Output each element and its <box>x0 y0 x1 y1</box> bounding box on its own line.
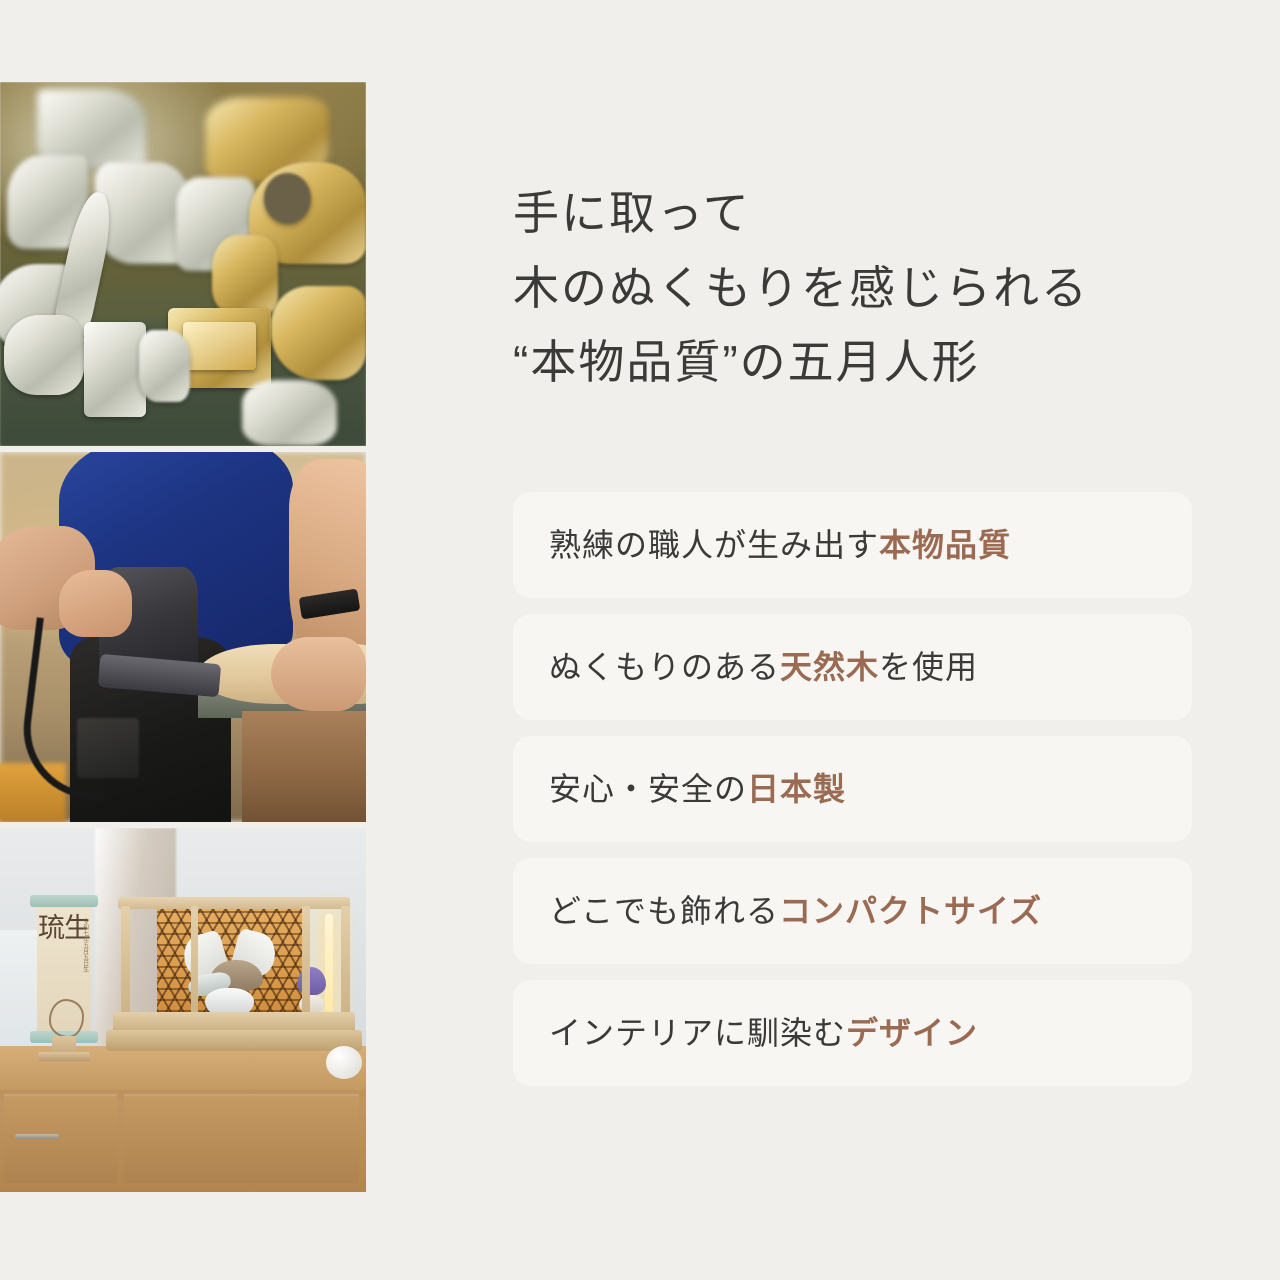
content-column: 手に取って 木のぬくもりを感じられる “本物品質”の五月人形 熟練の職人が生み出… <box>513 0 1213 1280</box>
drawer-handle <box>15 1134 59 1139</box>
dresser-drawer <box>124 1094 358 1183</box>
right-arm <box>289 459 366 666</box>
case-post <box>191 906 198 1014</box>
headline-line-2: 木のぬくもりを感じられる <box>513 251 1089 326</box>
silver-plate <box>84 322 146 417</box>
feature-card-3: 安心・安全の日本製 <box>513 736 1192 842</box>
feature-highlight: 天然木 <box>780 649 879 685</box>
gold-ornament-inner <box>183 322 256 369</box>
snake-illustration <box>49 999 85 1038</box>
right-hand <box>271 637 366 711</box>
feature-card-4: どこでも飾れるコンパクトサイズ <box>513 858 1192 964</box>
feature-card-1: 熟練の職人が生み出す本物品質 <box>513 492 1192 598</box>
feature-text-5: インテリアに馴染むデザイン <box>549 1014 978 1052</box>
case-base-lower <box>106 1030 362 1051</box>
scroll-subtext: 令和七年五月五日生 <box>81 918 87 972</box>
feature-suffix: を使用 <box>879 649 978 685</box>
left-hand <box>59 570 132 637</box>
feature-highlight: 日本製 <box>747 771 846 807</box>
feature-card-5: インテリアに馴染むデザイン <box>513 980 1192 1086</box>
feature-text-4: どこでも飾れるコンパクトサイズ <box>549 892 1042 930</box>
name-scroll: 琉生 令和七年五月五日生 <box>37 883 92 1058</box>
led-light-bar <box>325 914 333 1012</box>
feature-prefix: どこでも飾れる <box>549 893 779 929</box>
feature-text-2: ぬくもりのある天然木を使用 <box>549 648 978 686</box>
feature-card-2: ぬくもりのある天然木を使用 <box>513 614 1192 720</box>
photo-armor-parts <box>0 82 366 446</box>
case-post <box>341 906 351 1014</box>
feature-highlight: 本物品質 <box>879 527 1011 563</box>
headline-line-3: “本物品質”の五月人形 <box>513 325 1089 400</box>
feature-prefix: 熟練の職人が生み出す <box>549 527 879 563</box>
headline-line-1: 手に取って <box>513 176 1089 251</box>
feature-highlight: コンパクトサイズ <box>779 893 1042 929</box>
feature-text-1: 熟練の職人が生み出す本物品質 <box>549 526 1011 564</box>
feature-prefix: 安心・安全の <box>549 771 747 807</box>
silver-fitting-blurred <box>242 380 337 446</box>
feature-prefix: インテリアに馴染む <box>549 1015 846 1051</box>
gold-crest-hole <box>264 173 312 224</box>
case-top-frame <box>118 897 350 909</box>
feature-highlight: デザイン <box>846 1015 978 1051</box>
case-post <box>121 906 131 1014</box>
case-post <box>302 906 310 1014</box>
photo-display-case: 琉生 令和七年五月五日生 <box>0 828 366 1192</box>
scroll-top-bar <box>30 895 98 907</box>
photo-craftsman-sanding <box>0 452 366 822</box>
feature-list: 熟練の職人が生み出す本物品質 ぬくもりのある天然木を使用 安心・安全の日本製 ど… <box>513 492 1192 1086</box>
scroll-stand-foot <box>38 1052 91 1061</box>
gold-fitting <box>271 286 366 381</box>
silver-helmet-piece <box>4 315 85 395</box>
gold-fitting <box>212 235 278 315</box>
feature-prefix: ぬくもりのある <box>549 649 780 685</box>
silver-fitting <box>139 330 190 403</box>
photo-column: 琉生 令和七年五月五日生 <box>0 82 366 1194</box>
workbench-leg <box>242 711 366 822</box>
feature-text-3: 安心・安全の日本製 <box>549 770 846 808</box>
page-title: 手に取って 木のぬくもりを感じられる “本物品質”の五月人形 <box>513 176 1089 400</box>
wooden-display-case <box>113 890 355 1065</box>
